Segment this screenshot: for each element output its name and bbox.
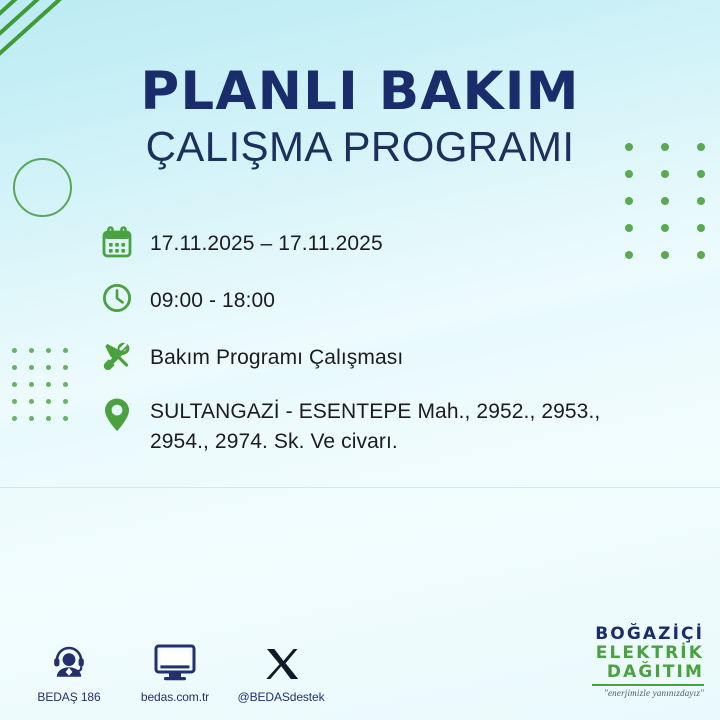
location-pin-icon: [98, 396, 136, 437]
brand-logo: BOĞAZİÇİ ELEKTRİK DAĞITIM "enerjimizle y…: [592, 626, 704, 698]
detail-text-time: 09:00 - 18:00: [136, 282, 275, 316]
brand-underline: [592, 684, 704, 686]
contact-phone[interactable]: BEDAŞ 186: [30, 641, 108, 704]
contact-website-label: bedas.com.tr: [141, 690, 209, 704]
monitor-icon: [153, 641, 197, 683]
section-divider: [0, 487, 720, 488]
footer-contacts: BEDAŞ 186 bedas.com.tr @BEDASdestek: [30, 641, 320, 704]
headset-support-icon: [48, 641, 90, 683]
calendar-icon: [98, 225, 136, 266]
contact-phone-label: BEDAŞ 186: [37, 690, 100, 704]
detail-row-address: SULTANGAZİ - ESENTEPE Mah., 2952., 2953.…: [98, 396, 618, 457]
title-subtitle: ÇALIŞMA PROGRAMI: [0, 123, 720, 170]
detail-row-date: 17.11.2025 – 17.11.2025: [98, 225, 618, 266]
brand-line-bogazici: BOĞAZİÇİ: [592, 626, 704, 643]
detail-row-work-type: Bakım Programı Çalışması: [98, 339, 618, 380]
brand-line-elektrik: ELEKTRİK: [592, 645, 704, 662]
detail-row-time: 09:00 - 18:00: [98, 282, 618, 323]
clock-icon: [98, 282, 136, 323]
brand-tagline: "enerjimizle yanınızdayız": [592, 689, 704, 698]
contact-x-account[interactable]: @BEDASdestek: [242, 641, 320, 704]
page-title: PLANLI BAKIM ÇALIŞMA PROGRAMI: [0, 64, 720, 170]
contact-x-label: @BEDASdestek: [237, 690, 324, 704]
tools-icon: [98, 339, 136, 380]
maintenance-details-list: 17.11.2025 – 17.11.2025 09:00 - 18:00: [98, 225, 618, 457]
x-twitter-icon: [262, 641, 300, 683]
title-main: PLANLI BAKIM: [0, 64, 720, 120]
contact-website[interactable]: bedas.com.tr: [136, 641, 214, 704]
detail-text-date: 17.11.2025 – 17.11.2025: [136, 225, 383, 259]
detail-text-address: SULTANGAZİ - ESENTEPE Mah., 2952., 2953.…: [136, 396, 618, 457]
dot-grid-left-decoration: [12, 348, 80, 433]
planned-maintenance-poster: PLANLI BAKIM ÇALIŞMA PROGRAMI: [0, 0, 720, 720]
detail-text-work-type: Bakım Programı Çalışması: [136, 339, 403, 373]
brand-line-dagitim: DAĞITIM: [592, 664, 704, 681]
